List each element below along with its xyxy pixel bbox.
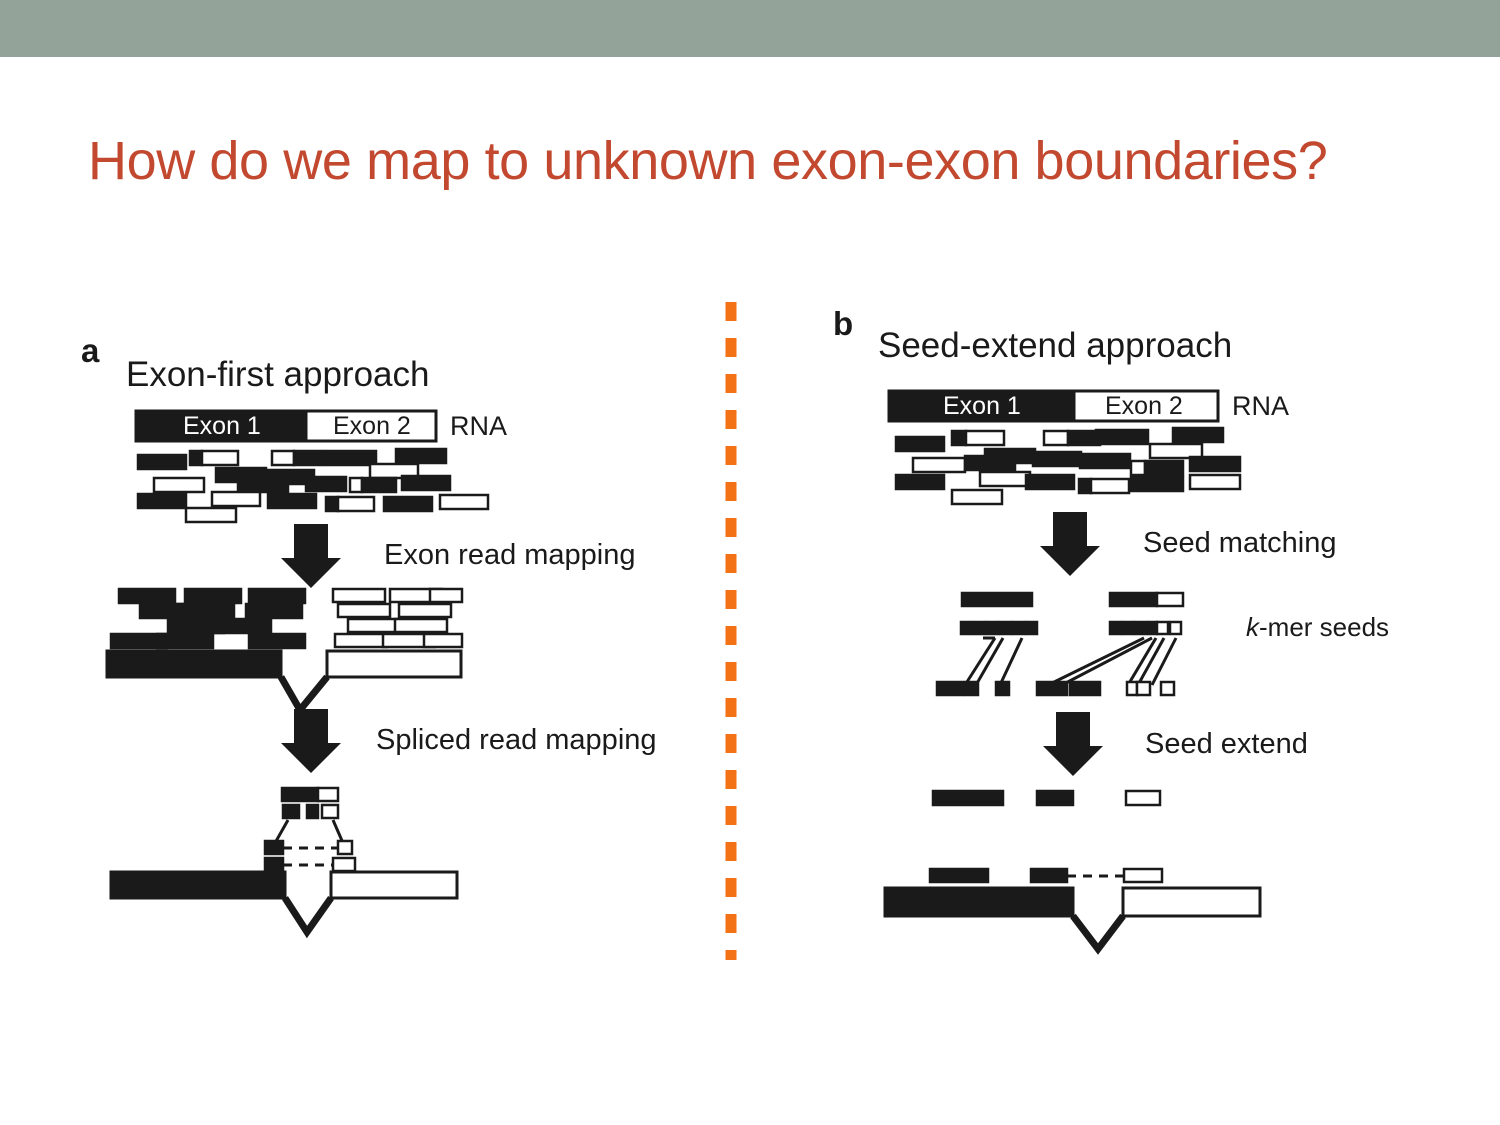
panel-a-final-exon1-block [111,872,285,898]
panel-b-seed-match-lines-left [965,638,1022,685]
panel-a-intron-v-bottom [285,898,331,932]
panel-b-read-scatter [896,428,1240,504]
panel-a-arrow-spliced-read-mapping [281,709,341,773]
slide-canvas: How do we map to unknown exon-exon bound… [0,0,1500,1125]
panel-b-arrow-seed-matching [1040,512,1100,576]
panel-a-mapped-white-reads [333,589,462,647]
panel-b-intron-v [1073,916,1123,949]
panel-a-letter: a [81,332,99,370]
panel-a-read-scatter [138,449,488,522]
panel-b-graphics [885,391,1260,949]
panel-b-seed-match-lines-right [1048,638,1176,685]
panel-b-exon2-label: Exon 2 [1105,392,1183,421]
panel-b-title: Seed-extend approach [878,326,1232,366]
panel-b-exon1-label: Exon 1 [943,392,1021,421]
panel-a-rna-label: RNA [450,411,507,442]
panel-b-step-seed-matching: Seed matching [1143,527,1336,560]
panel-b-arrow-seed-extend [1043,712,1103,776]
panel-a-arrow-exon-read-mapping [281,524,341,588]
panel-b-final-alignment [930,869,1162,882]
panel-b-rna-label: RNA [1232,391,1289,422]
panel-b-final-exon1-block [885,888,1073,916]
panel-b-final-exon2-block [1123,888,1260,916]
panel-a-exon1-block [107,651,281,677]
panel-b-genomic-seed-hits [937,682,1174,695]
panel-a-graphics [107,411,488,932]
panel-b-kmer-seeds-label: k-mer seeds [1246,612,1389,643]
kmer-rest: -mer seeds [1259,612,1389,642]
panel-a-spliced-reads [265,788,355,871]
panel-a-exon2-label: Exon 2 [333,412,411,441]
kmer-italic-k: k [1246,612,1259,642]
figure-container: a Exon-first approach Exon 1 Exon 2 RNA … [0,0,1500,1125]
panel-b-kmer-seeds-left [961,622,1037,634]
panel-a-final-exon2-block [331,872,457,898]
panel-b-query-reads [962,593,1183,606]
panel-b-kmer-seeds-right [1110,622,1181,634]
panel-a-exon2-block [327,651,461,677]
panel-a-exon1-label: Exon 1 [183,412,261,441]
panel-b-step-seed-extend: Seed extend [1145,728,1308,761]
panel-a-step-spliced-read-mapping: Spliced read mapping [376,724,657,757]
panel-a-intron-v-top [281,677,327,710]
figure-vector-graphics [0,0,1500,1125]
panel-a-mapped-black-reads [111,589,305,648]
panel-b-extended-seeds [933,791,1160,805]
panel-a-step-exon-read-mapping: Exon read mapping [384,539,636,572]
panel-b-letter: b [833,305,853,343]
panel-a-title: Exon-first approach [126,355,429,395]
